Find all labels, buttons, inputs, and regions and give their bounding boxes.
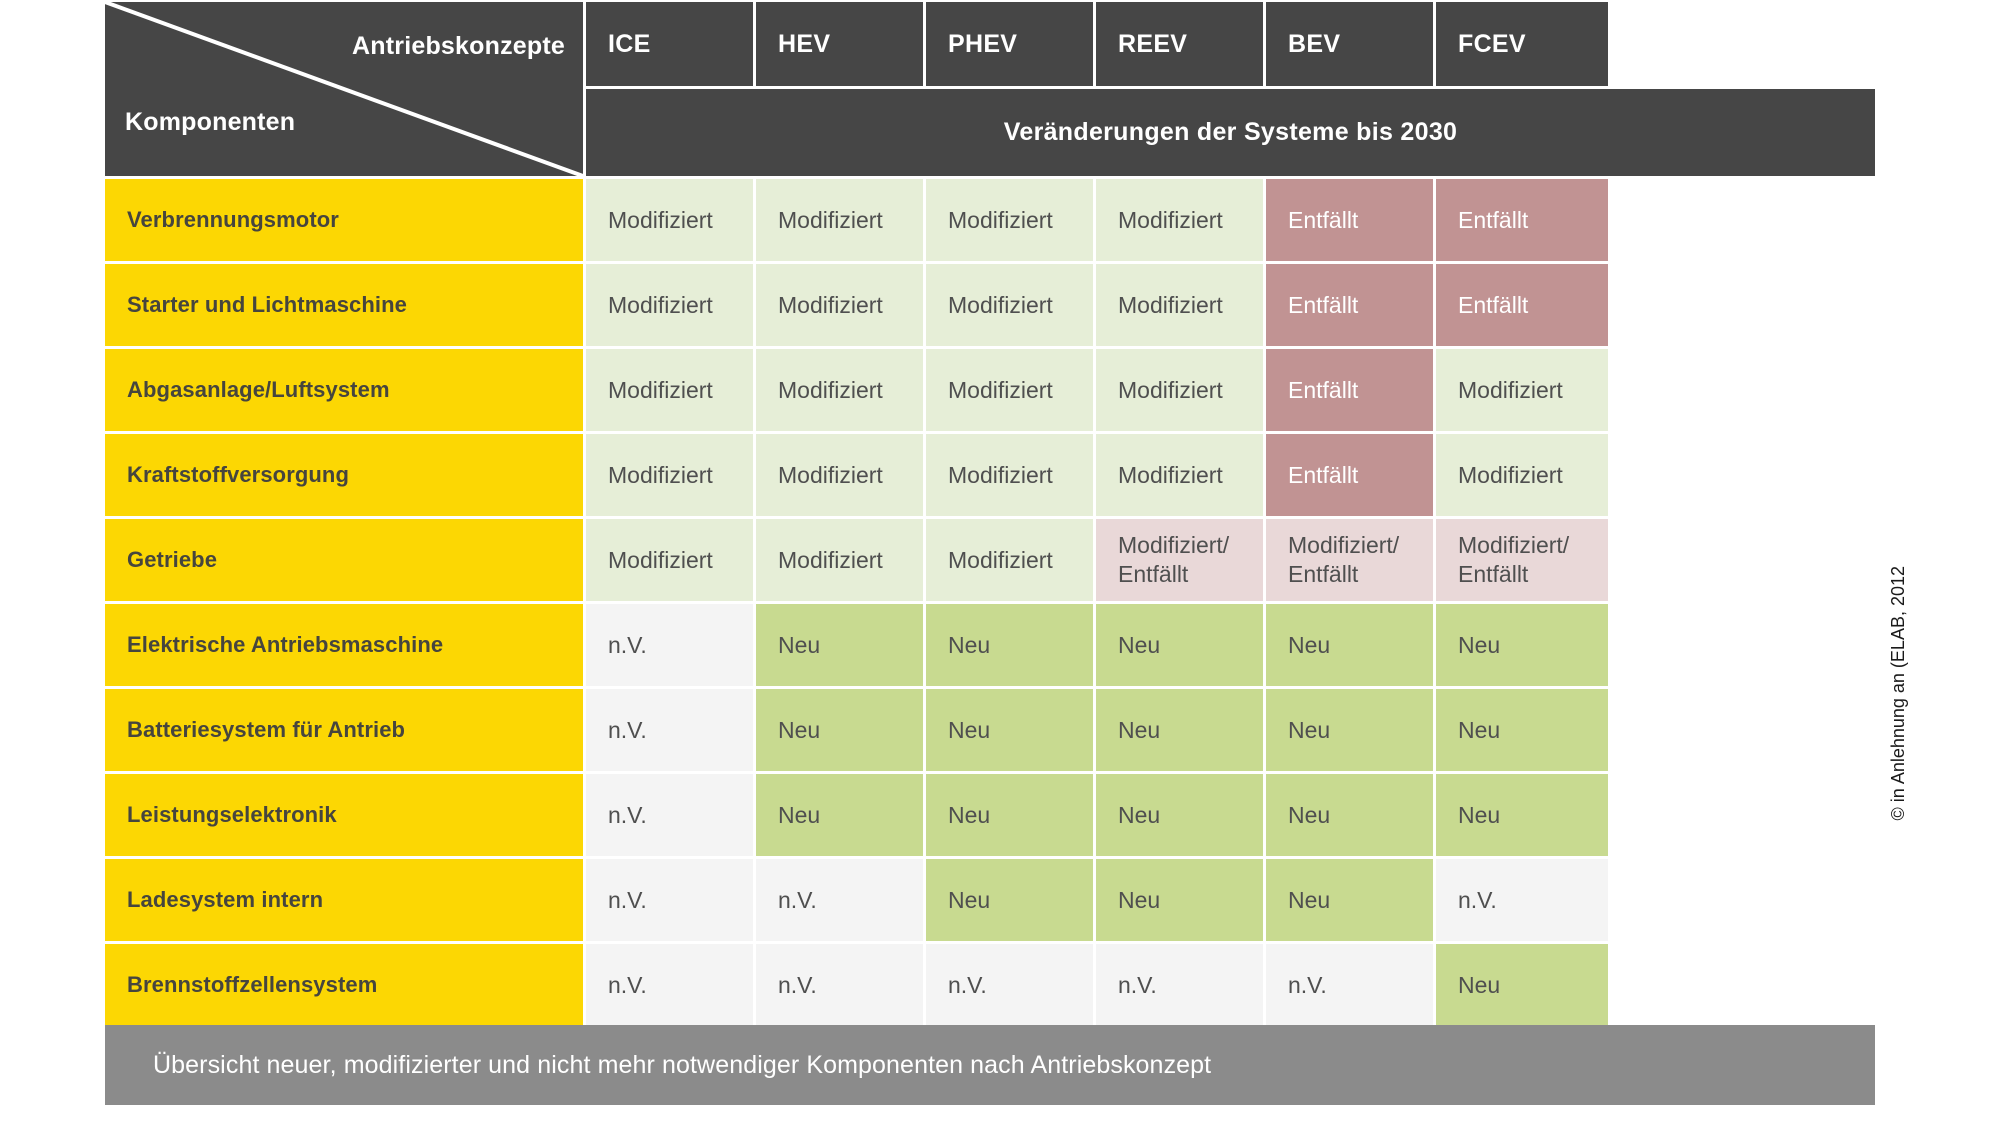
header-span-label: Veränderungen der Systeme bis 2030 <box>586 89 1875 176</box>
infographic-matrix-page: Antriebskonzepte Komponenten ICEHEVPHEVR… <box>0 0 2000 1124</box>
matrix-cell[interactable]: Modifiziert <box>586 264 753 346</box>
drivetrain-component-matrix: Antriebskonzepte Komponenten ICEHEVPHEVR… <box>105 2 1875 1020</box>
table-row: Starter und LichtmaschineModifiziertModi… <box>105 264 1875 346</box>
matrix-cell[interactable]: Neu <box>1266 774 1433 856</box>
matrix-cell[interactable]: Entfällt <box>1266 434 1433 516</box>
matrix-cell[interactable]: n.V. <box>756 859 923 941</box>
matrix-cell[interactable]: n.V. <box>1436 859 1608 941</box>
matrix-cell[interactable]: Modifiziert/Entfällt <box>1436 519 1608 601</box>
matrix-cell[interactable]: Neu <box>1266 689 1433 771</box>
matrix-cell[interactable]: n.V. <box>586 604 753 686</box>
matrix-cell[interactable]: Neu <box>926 774 1093 856</box>
table-row: KraftstoffversorgungModifiziertModifizie… <box>105 434 1875 516</box>
matrix-cell[interactable]: Neu <box>926 859 1093 941</box>
matrix-cell[interactable]: n.V. <box>586 859 753 941</box>
matrix-cell[interactable]: Modifiziert <box>1096 179 1263 261</box>
matrix-cell[interactable]: Entfällt <box>1436 264 1608 346</box>
header-corner-cell: Antriebskonzepte Komponenten <box>105 2 583 176</box>
matrix-cell[interactable]: Modifiziert <box>1096 434 1263 516</box>
table-row: Abgasanlage/LuftsystemModifiziertModifiz… <box>105 349 1875 431</box>
row-label-component[interactable]: Getriebe <box>105 519 583 601</box>
matrix-cell[interactable]: Neu <box>1096 774 1263 856</box>
matrix-cell[interactable]: Entfällt <box>1266 264 1433 346</box>
matrix-cell[interactable]: Modifiziert <box>926 349 1093 431</box>
matrix-cell[interactable]: Neu <box>756 774 923 856</box>
matrix-cell[interactable]: Modifiziert <box>756 349 923 431</box>
row-label-component[interactable]: Ladesystem intern <box>105 859 583 941</box>
row-label-component[interactable]: Batteriesystem für Antrieb <box>105 689 583 771</box>
matrix-cell[interactable]: Neu <box>756 604 923 686</box>
row-label-component[interactable]: Brennstoffzellensystem <box>105 944 583 1026</box>
matrix-cell[interactable]: n.V. <box>1096 944 1263 1026</box>
matrix-cell[interactable]: Modifiziert <box>926 179 1093 261</box>
row-label-component[interactable]: Verbrennungsmotor <box>105 179 583 261</box>
matrix-cell[interactable]: Modifiziert <box>586 519 753 601</box>
matrix-cell[interactable]: n.V. <box>586 689 753 771</box>
column-header-bev[interactable]: BEV <box>1266 2 1433 86</box>
diagonal-divider-icon <box>105 2 583 176</box>
figure-caption: Übersicht neuer, modifizierter und nicht… <box>105 1025 1875 1105</box>
row-label-component[interactable]: Starter und Lichtmaschine <box>105 264 583 346</box>
matrix-cell[interactable]: Modifiziert/Entfällt <box>1096 519 1263 601</box>
matrix-cell[interactable]: Neu <box>756 689 923 771</box>
matrix-cell[interactable]: n.V. <box>1266 944 1433 1026</box>
row-label-component[interactable]: Elektrische Antriebsmaschine <box>105 604 583 686</box>
matrix-cell[interactable]: Modifiziert <box>586 434 753 516</box>
column-header-ice[interactable]: ICE <box>586 2 753 86</box>
column-header-reev[interactable]: REEV <box>1096 2 1263 86</box>
column-header-phev[interactable]: PHEV <box>926 2 1093 86</box>
matrix-cell[interactable]: n.V. <box>586 944 753 1026</box>
matrix-cell[interactable]: Modifiziert <box>1436 434 1608 516</box>
matrix-cell[interactable]: Neu <box>1266 604 1433 686</box>
matrix-cell[interactable]: Neu <box>1436 774 1608 856</box>
matrix-cell[interactable]: Modifiziert <box>756 519 923 601</box>
axis-label-concepts: Antriebskonzepte <box>352 32 565 61</box>
matrix-cell[interactable]: Modifiziert <box>586 349 753 431</box>
table-row: GetriebeModifiziertModifiziertModifizier… <box>105 519 1875 601</box>
matrix-cell[interactable]: Neu <box>926 604 1093 686</box>
table-row: Batteriesystem für Antriebn.V.NeuNeuNeuN… <box>105 689 1875 771</box>
row-label-component[interactable]: Abgasanlage/Luftsystem <box>105 349 583 431</box>
matrix-cell[interactable]: Neu <box>1096 859 1263 941</box>
matrix-cell[interactable]: Neu <box>1436 604 1608 686</box>
matrix-cell[interactable]: n.V. <box>926 944 1093 1026</box>
matrix-cell[interactable]: Neu <box>1436 944 1608 1026</box>
table-row: Leistungselektronikn.V.NeuNeuNeuNeuNeu <box>105 774 1875 856</box>
matrix-cell[interactable]: n.V. <box>756 944 923 1026</box>
column-header-hev[interactable]: HEV <box>756 2 923 86</box>
matrix-cell[interactable]: Modifiziert/Entfällt <box>1266 519 1433 601</box>
matrix-cell[interactable]: Modifiziert <box>926 434 1093 516</box>
matrix-cell[interactable]: Entfällt <box>1266 349 1433 431</box>
matrix-cell[interactable]: Neu <box>1436 689 1608 771</box>
column-header-fcev[interactable]: FCEV <box>1436 2 1608 86</box>
source-credit: © in Anlehnung an (ELAB, 2012 <box>1888 566 1909 820</box>
table-row: Brennstoffzellensystemn.V.n.V.n.V.n.V.n.… <box>105 944 1875 1026</box>
table-row: VerbrennungsmotorModifiziertModifiziertM… <box>105 179 1875 261</box>
matrix-cell[interactable]: Modifiziert <box>926 264 1093 346</box>
matrix-cell[interactable]: Neu <box>1096 689 1263 771</box>
matrix-cell[interactable]: n.V. <box>586 774 753 856</box>
table-row: Elektrische Antriebsmaschinen.V.NeuNeuNe… <box>105 604 1875 686</box>
matrix-cell[interactable]: Modifiziert <box>756 434 923 516</box>
matrix-cell[interactable]: Modifiziert <box>586 179 753 261</box>
table-row: Ladesystem internn.V.n.V.NeuNeuNeun.V. <box>105 859 1875 941</box>
matrix-cell[interactable]: Entfällt <box>1266 179 1433 261</box>
matrix-cell[interactable]: Modifiziert <box>756 264 923 346</box>
matrix-cell[interactable]: Modifiziert <box>1096 264 1263 346</box>
matrix-cell[interactable]: Modifiziert <box>1436 349 1608 431</box>
matrix-cell[interactable]: Neu <box>926 689 1093 771</box>
axis-label-components: Komponenten <box>125 108 295 137</box>
row-label-component[interactable]: Leistungselektronik <box>105 774 583 856</box>
column-header-row: ICEHEVPHEVREEVBEVFCEV <box>586 2 1875 86</box>
matrix-cell[interactable]: Neu <box>1096 604 1263 686</box>
row-label-component[interactable]: Kraftstoffversorgung <box>105 434 583 516</box>
matrix-cell[interactable]: Modifiziert <box>926 519 1093 601</box>
matrix-cell[interactable]: Entfällt <box>1436 179 1608 261</box>
matrix-cell[interactable]: Neu <box>1266 859 1433 941</box>
matrix-cell[interactable]: Modifiziert <box>756 179 923 261</box>
matrix-cell[interactable]: Modifiziert <box>1096 349 1263 431</box>
